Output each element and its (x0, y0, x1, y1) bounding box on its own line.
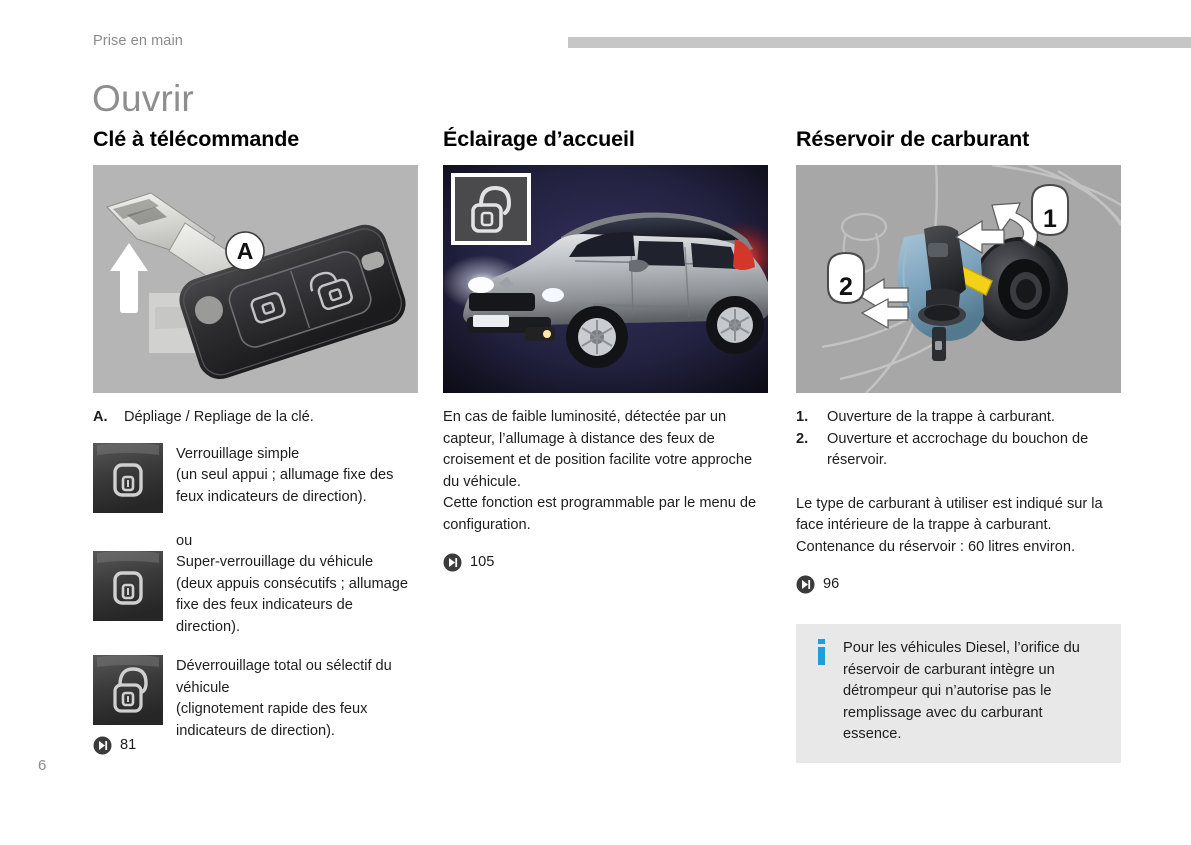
manual-page: Prise en main Ouvrir Clé à télécommande (0, 0, 1191, 845)
unlock-pictogram-inset (451, 173, 531, 245)
callout-2: 2 (828, 253, 864, 303)
feature-line: direction). (176, 617, 408, 639)
legend-value: Ouverture de la trappe à carburant. (827, 407, 1121, 429)
page-link-icon (796, 575, 815, 594)
page-reference-96[interactable]: 96 (796, 575, 1121, 594)
legend-value: Dépliage / Repliage de la clé. (124, 407, 418, 429)
feature-line: (clignotement rapide des feux (176, 699, 392, 721)
page-reference-105[interactable]: 105 (443, 553, 768, 572)
legend-item: A. Dépliage / Repliage de la clé. (93, 407, 418, 429)
feature-text: Déverrouillage total ou sélectif du véhi… (176, 655, 392, 742)
body-paragraph: Cette fonction est programmable par le m… (443, 493, 768, 536)
feature-line: Verrouillage simple (176, 444, 393, 466)
welcome-lighting-figure (443, 165, 768, 393)
column-remote-key: Clé à télécommande (93, 126, 418, 755)
column-fuel-tank: Réservoir de carburant (796, 126, 1121, 763)
feature-line: (un seul appui ; allumage fixe des (176, 465, 393, 487)
svg-text:1: 1 (1043, 205, 1057, 233)
body-paragraph: Le type de carburant à utiliser est indi… (796, 494, 1121, 537)
page-number: 6 (38, 757, 46, 774)
svg-text:A: A (237, 238, 254, 264)
page-reference-number: 81 (120, 736, 136, 755)
information-callout-box: Pour les véhicules Diesel, l’orifice du … (796, 624, 1121, 763)
figure-legend-fuel-tank: 1. Ouverture de la trappe à carburant. 2… (796, 407, 1121, 472)
feature-line: Super-verrouillage du véhicule (176, 552, 408, 574)
column-welcome-lighting: Éclairage d’accueil (443, 126, 768, 572)
padlock-closed-icon (93, 551, 163, 621)
section-heading-remote-key: Clé à télécommande (93, 126, 418, 152)
page-reference-number: 105 (470, 553, 494, 572)
page-reference-number: 96 (823, 575, 839, 594)
remote-key-figure: A (93, 165, 418, 393)
header-rule (568, 37, 1191, 48)
page-link-icon (93, 736, 112, 755)
legend-item: 2. Ouverture et accrochage du bouchon de… (796, 429, 1121, 472)
feature-text: Super-verrouillage du véhicule (deux app… (176, 551, 408, 638)
figure-legend-remote-key: A. Dépliage / Repliage de la clé. (93, 407, 418, 429)
feature-line: (deux appuis consécutifs ; allumage (176, 574, 408, 596)
feature-text: Verrouillage simple (un seul appui ; all… (176, 443, 393, 509)
alternative-label: ou (176, 531, 418, 553)
page-link-icon (443, 553, 462, 572)
feature-row-super-lock: Super-verrouillage du véhicule (deux app… (93, 551, 418, 638)
section-heading-fuel-tank: Réservoir de carburant (796, 126, 1121, 152)
legend-key: A. (93, 407, 124, 429)
legend-value: Ouverture et accrochage du bouchon de ré… (827, 429, 1121, 472)
feature-line: Déverrouillage total ou sélectif du (176, 656, 392, 678)
feature-line: véhicule (176, 678, 392, 700)
legend-item: 1. Ouverture de la trappe à carburant. (796, 407, 1121, 429)
feature-line: indicateurs de direction). (176, 721, 392, 743)
feature-row-simple-lock: Verrouillage simple (un seul appui ; all… (93, 443, 418, 513)
feature-line: feux indicateurs de direction). (176, 487, 393, 509)
callout-1: 1 (1032, 185, 1068, 235)
padlock-open-icon (93, 655, 163, 725)
body-paragraph: En cas de faible luminosité, détectée pa… (443, 407, 768, 493)
alternative-label-wrapper: ou (93, 531, 418, 639)
information-text: Pour les véhicules Diesel, l’orifice du … (843, 638, 1105, 746)
legend-key: 1. (796, 407, 827, 429)
legend-key: 2. (796, 429, 827, 472)
padlock-closed-icon (93, 443, 163, 513)
section-heading-welcome-lighting: Éclairage d’accueil (443, 126, 768, 152)
running-header: Prise en main (93, 33, 183, 49)
body-paragraph: Contenance du réservoir : 60 litres envi… (796, 537, 1121, 559)
feature-row-unlock: Déverrouillage total ou sélectif du véhi… (93, 655, 418, 742)
page-title: Ouvrir (92, 78, 194, 120)
information-icon (812, 638, 830, 666)
svg-text:2: 2 (839, 273, 853, 301)
feature-line: fixe des feux indicateurs de (176, 595, 408, 617)
callout-a: A (226, 232, 264, 270)
fuel-filler-figure: 1 2 (796, 165, 1121, 393)
